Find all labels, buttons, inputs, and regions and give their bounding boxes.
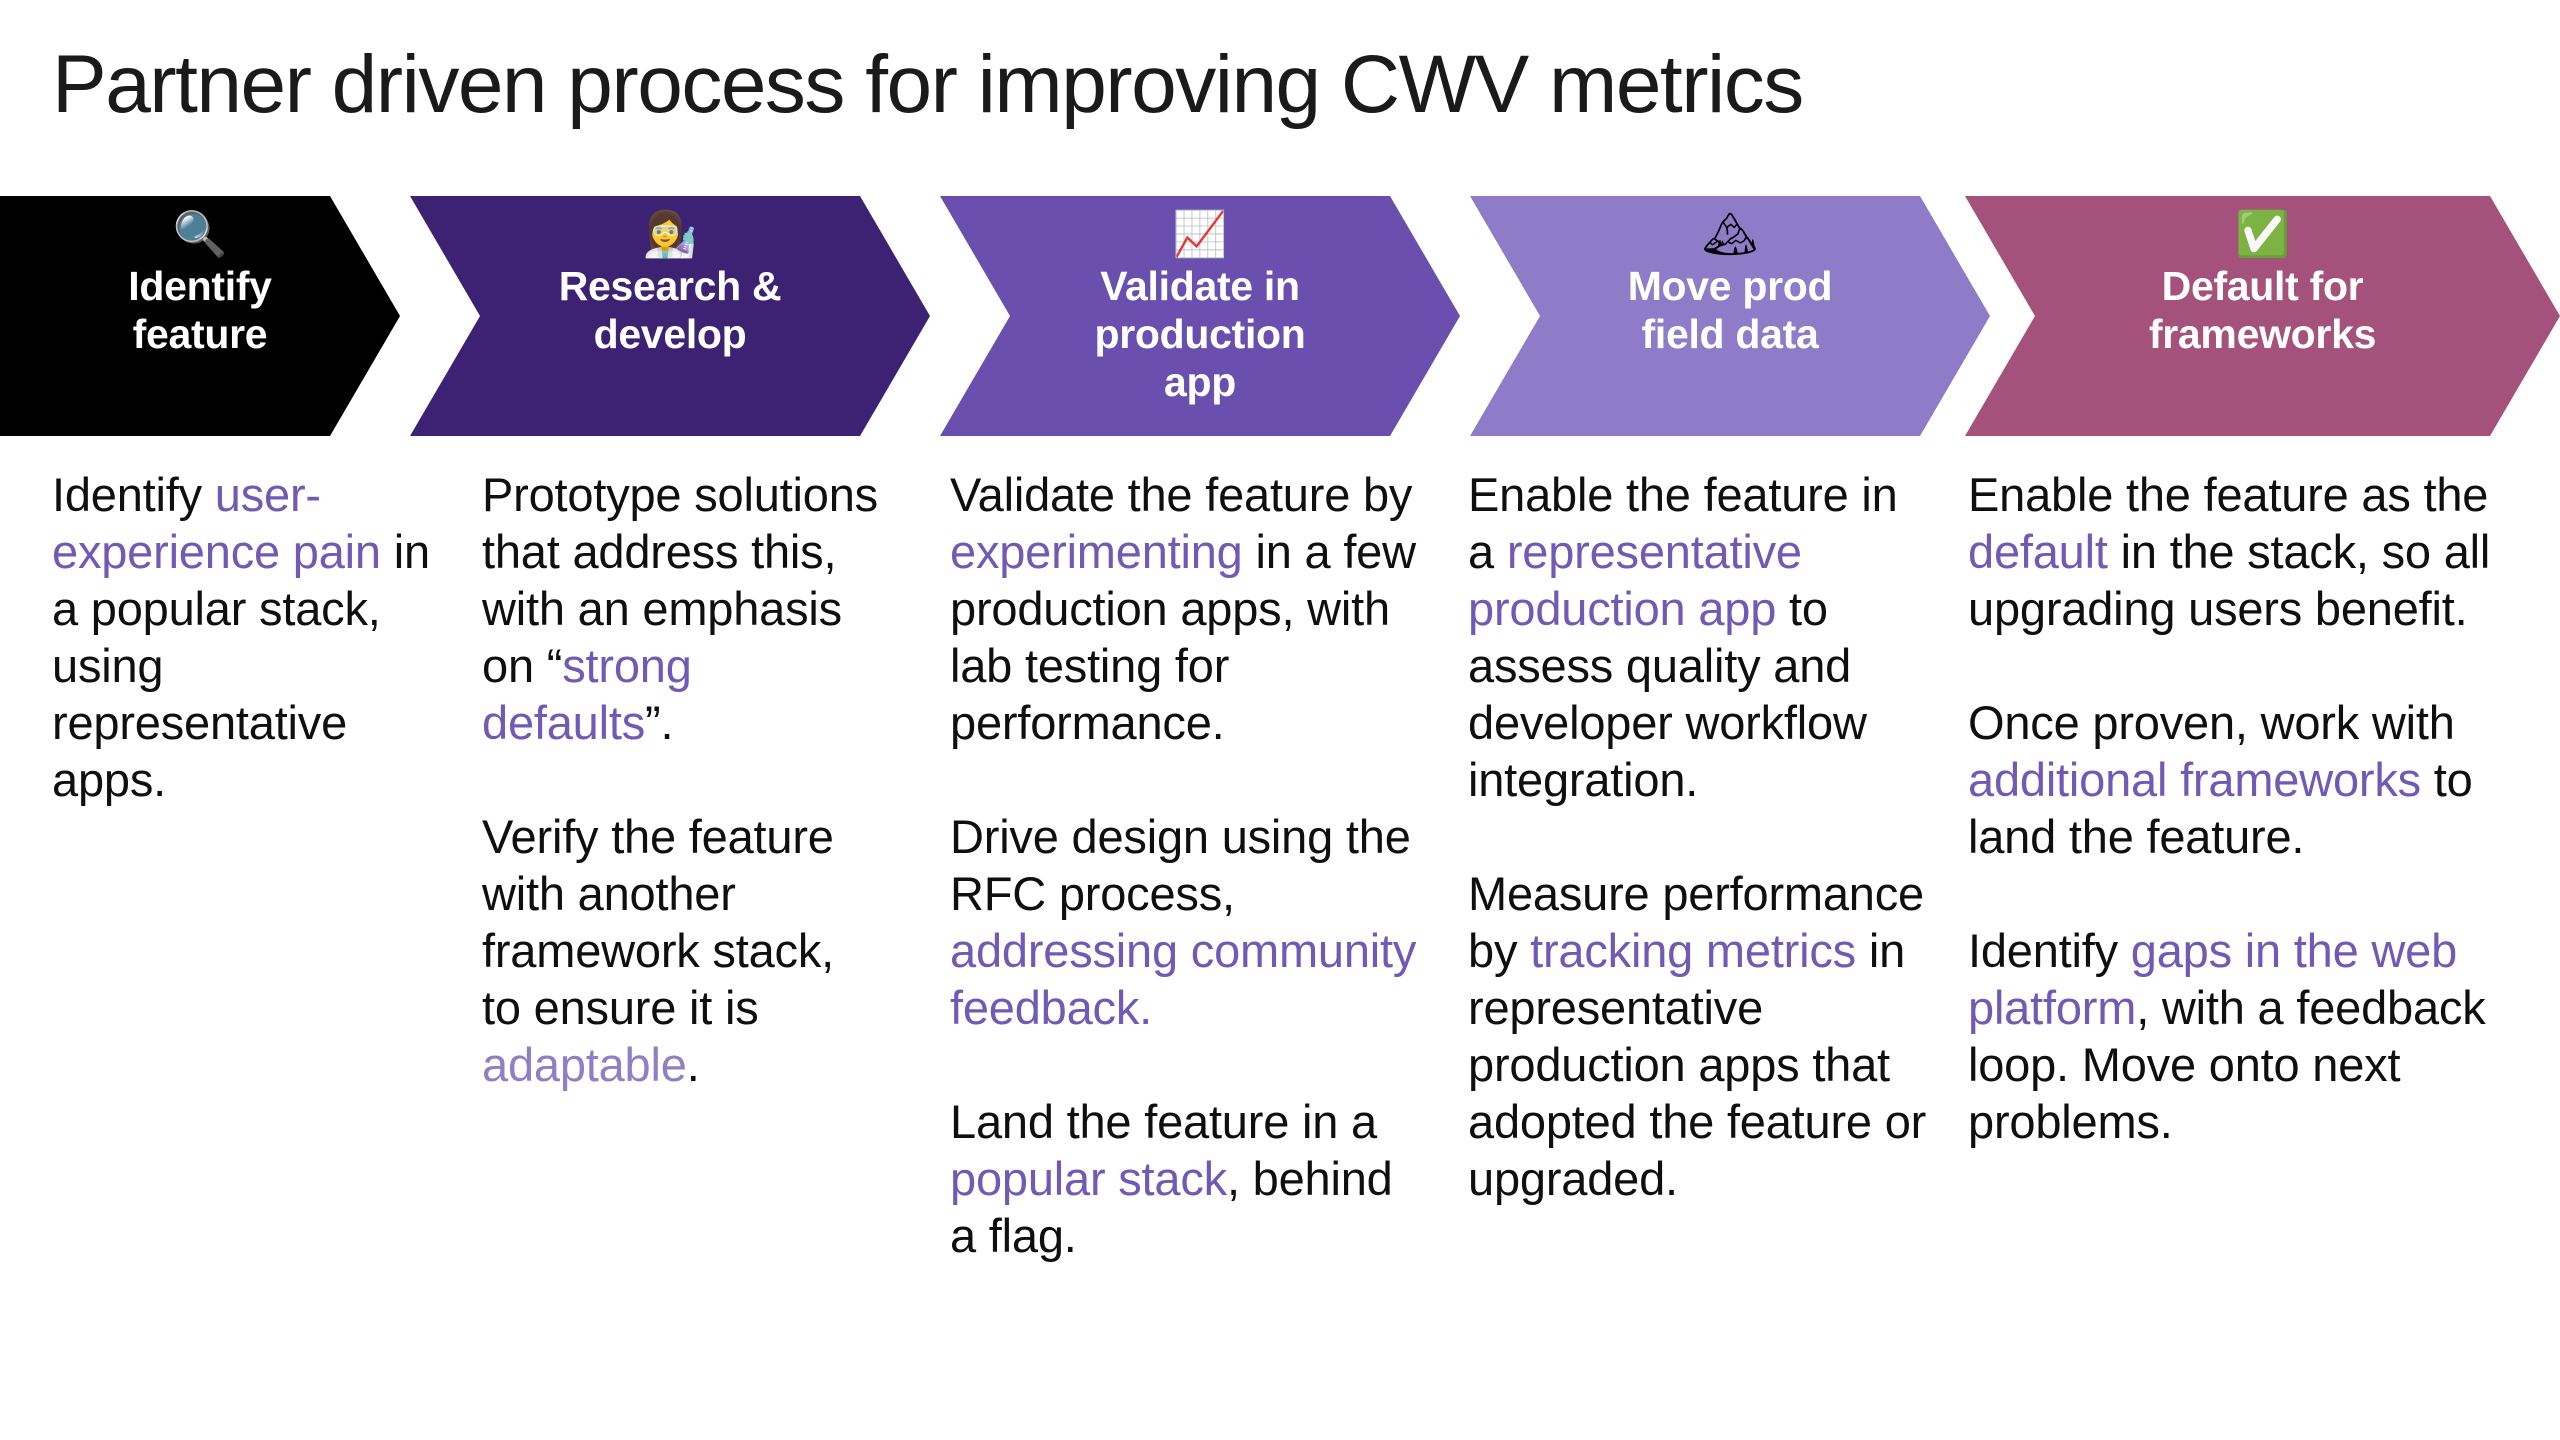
process-step-label-line: Default for [2149,262,2376,310]
text-run: . [687,1038,700,1091]
process-step-label-line: Identify [128,262,271,310]
description-paragraph: Drive design using the RFC process, addr… [950,808,1430,1036]
highlighted-term: adaptable [482,1038,687,1091]
highlighted-term: default [1968,525,2108,578]
highlighted-term: additional frameworks [1968,753,2421,806]
description-paragraph: Verify the feature with another framewor… [482,808,882,1093]
text-run: Drive design using the RFC process, [950,810,1411,920]
scientist-icon: 👩‍🔬 [643,212,698,260]
text-run: Identify [52,468,215,521]
text-run: Once proven, work with [1968,696,2455,749]
process-step-5[interactable]: ✅Default forframeworks [1965,196,2560,436]
description-paragraph: Enable the feature as the default in the… [1968,466,2518,637]
process-step-label-line: field data [1628,310,1833,358]
text-run: ”. [645,696,673,749]
process-step-label-line: develop [559,310,782,358]
description-column-1: Identify user-experience pain in a popul… [52,466,452,808]
process-step-1[interactable]: 🔍Identifyfeature [0,196,400,436]
description-column-4: Enable the feature in a representative p… [1468,466,1928,1207]
process-step-label-line: app [1094,358,1305,406]
slide-canvas: Partner driven process for improving CWV… [0,0,2560,1440]
description-paragraph: Identify gaps in the web platform, with … [1968,922,2518,1150]
highlighted-term: popular stack [950,1152,1227,1205]
description-paragraph: Land the feature in a popular stack, beh… [950,1093,1430,1264]
process-step-label: Default forframeworks [2135,262,2390,358]
description-column-5: Enable the feature as the default in the… [1968,466,2518,1150]
description-paragraph: Enable the feature in a representative p… [1468,466,1928,808]
process-step-label-line: production [1094,310,1305,358]
process-step-label-line: frameworks [2149,310,2376,358]
process-chevron-band: 🔍Identifyfeature👩‍🔬Research &develop📈Val… [0,196,2560,436]
highlighted-term: experimenting [950,525,1243,578]
process-description-columns: Identify user-experience pain in a popul… [0,466,2560,1366]
description-paragraph: Validate the feature by experimenting in… [950,466,1430,751]
description-column-2: Prototype solutions that address this, w… [482,466,882,1093]
highlighted-term: tracking metrics [1530,924,1856,977]
text-run: Land the feature in a [950,1095,1377,1148]
process-step-label-line: Move prod [1628,262,1833,310]
highlighted-term: addressing community feedback. [950,924,1416,1034]
description-paragraph: Measure performance by tracking metrics … [1468,865,1928,1207]
process-step-label-line: Research & [559,262,782,310]
process-step-4[interactable]: 🏔Move prodfield data [1470,196,1990,436]
process-step-label-line: Validate in [1094,262,1305,310]
text-run: Verify the feature with another framewor… [482,810,834,1034]
description-paragraph: Identify user-experience pain in a popul… [52,466,452,808]
text-run: Identify [1968,924,2131,977]
highlighted-term: representative production app [1468,525,1802,635]
mountain-icon: 🏔 [1702,212,1758,260]
magnifying-glass-icon: 🔍 [173,212,228,260]
page-title: Partner driven process for improving CWV… [52,36,2352,134]
process-step-label: Validate inproductionapp [1080,262,1319,406]
process-step-label: Move prodfield data [1614,262,1847,358]
process-step-3[interactable]: 📈Validate inproductionapp [940,196,1460,436]
process-step-label-line: feature [128,310,271,358]
check-mark-button-icon: ✅ [2235,212,2290,260]
process-step-label: Identifyfeature [114,262,285,358]
text-run: Enable the feature as the [1968,468,2488,521]
chart-increasing-icon: 📈 [1173,212,1228,260]
process-step-2[interactable]: 👩‍🔬Research &develop [410,196,930,436]
description-paragraph: Prototype solutions that address this, w… [482,466,882,751]
text-run: Validate the feature by [950,468,1412,521]
description-paragraph: Once proven, work with additional framew… [1968,694,2518,865]
process-step-label: Research &develop [545,262,796,358]
description-column-3: Validate the feature by experimenting in… [950,466,1430,1264]
